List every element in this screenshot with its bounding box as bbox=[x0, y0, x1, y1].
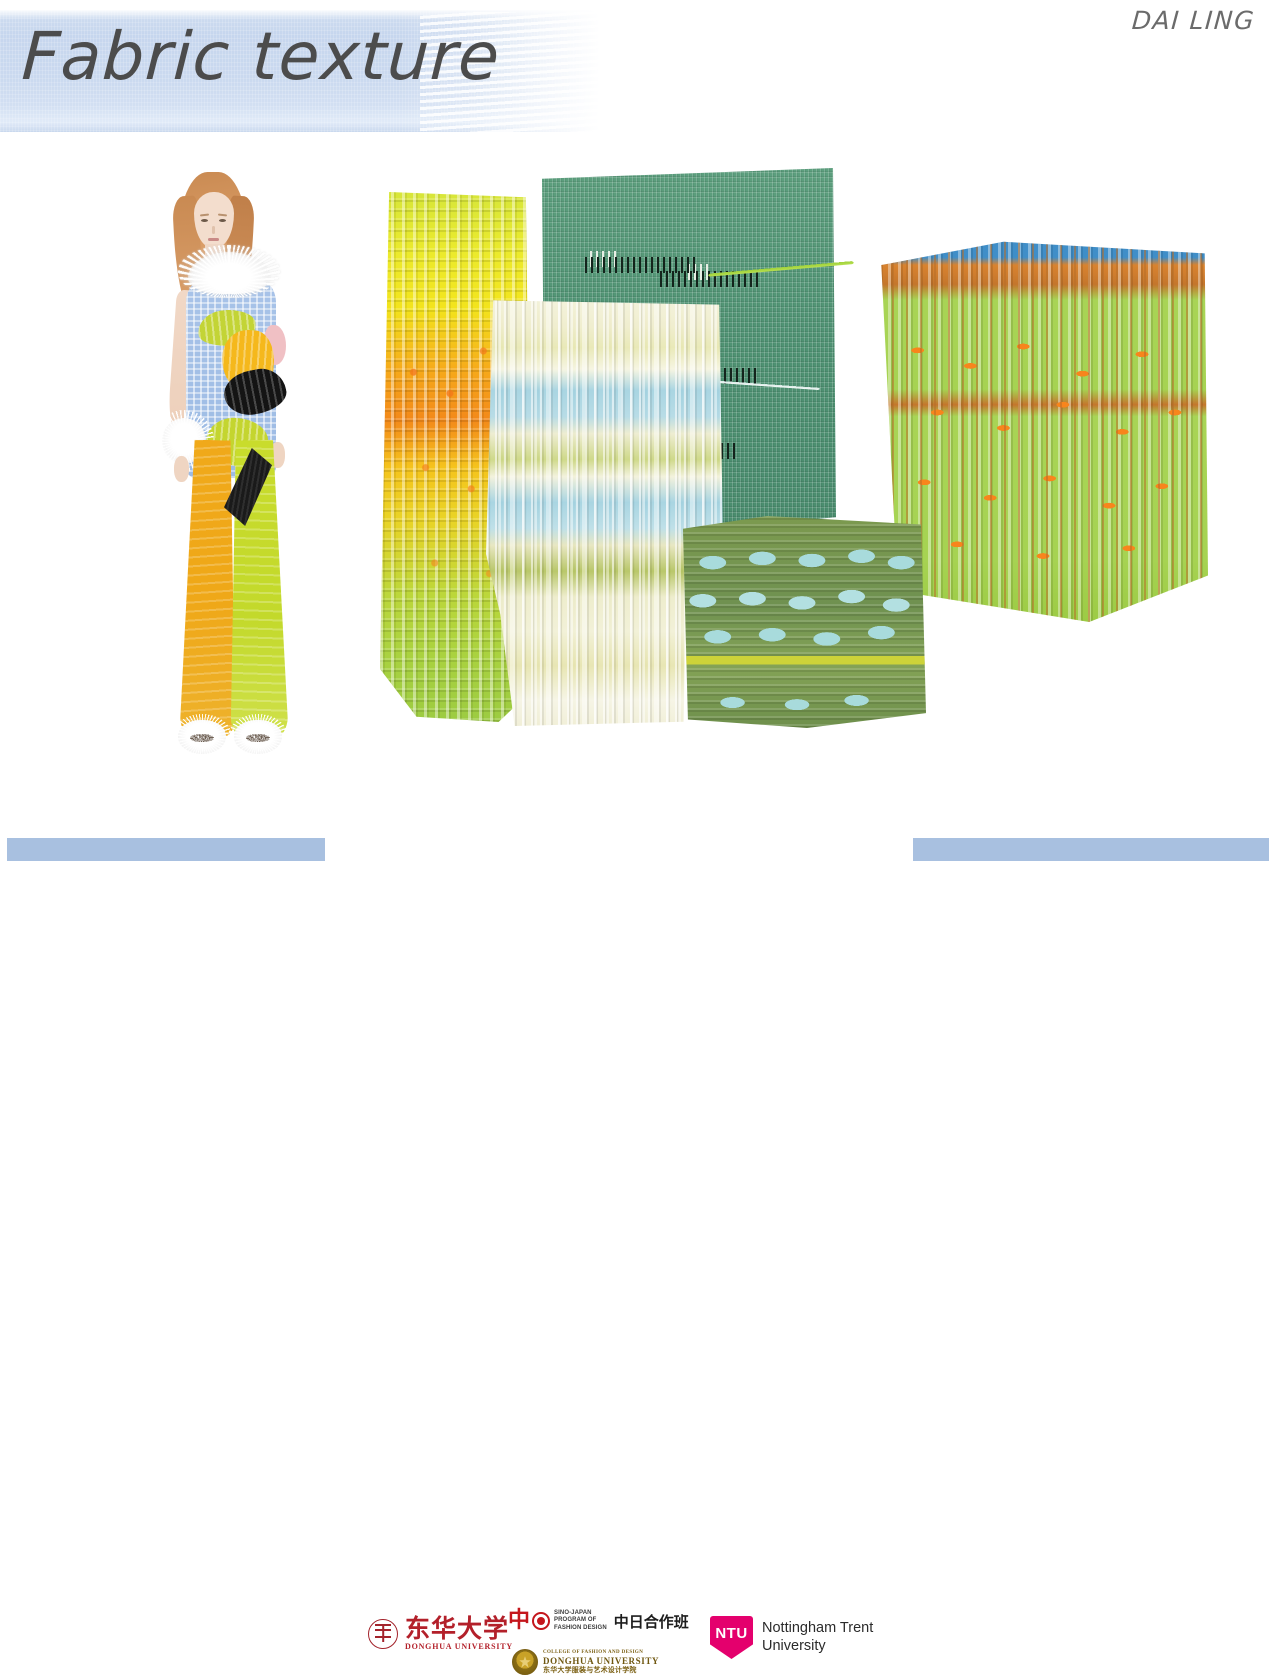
ntu-full-name: Nottingham Trent University bbox=[762, 1620, 873, 1655]
sino-japan-mark-icon: 中 bbox=[508, 1610, 550, 1632]
figure-shoe-left bbox=[178, 720, 226, 754]
logo-college-of-fashion-and-design: COLLEGE OF FASHION AND DESIGN DONGHUA UN… bbox=[512, 1649, 659, 1675]
college-line-3: 东华大学服装与艺术设计学院 bbox=[543, 1666, 659, 1674]
figure-hand-left bbox=[174, 456, 189, 482]
ntu-abbreviation: NTU bbox=[715, 1625, 747, 1642]
sino-japan-english-block: SINO-JAPAN PROGRAM OF FASHION DESIGN bbox=[554, 1610, 607, 1632]
swatch-olive-bobble bbox=[678, 516, 926, 728]
footer-bar-right bbox=[913, 838, 1269, 861]
knit-swatch-collage bbox=[378, 168, 1218, 748]
sino-japan-en-line1: SINO-JAPAN bbox=[554, 1610, 607, 1617]
sino-japan-zhong-glyph: 中 bbox=[508, 1610, 530, 1632]
donghua-name-en: DONGHUA UNIVERSITY bbox=[405, 1643, 513, 1651]
figure-eye-right bbox=[219, 219, 226, 222]
college-text-block: COLLEGE OF FASHION AND DESIGN DONGHUA UN… bbox=[543, 1650, 659, 1675]
figure-nose bbox=[212, 226, 215, 234]
donghua-name-cn: 东华大学 bbox=[405, 1616, 513, 1641]
sino-japan-en-line3: FASHION DESIGN bbox=[554, 1625, 607, 1632]
sino-japan-circle-icon bbox=[532, 1612, 550, 1630]
figure-shoe-right bbox=[234, 720, 282, 754]
slide-body bbox=[0, 150, 1269, 810]
donghua-text-block: 东华大学 DONGHUA UNIVERSITY bbox=[405, 1616, 513, 1651]
college-seal-icon bbox=[512, 1649, 538, 1675]
sino-japan-name-cn: 中日合作班 bbox=[614, 1611, 689, 1632]
footer-bar-left bbox=[7, 838, 325, 861]
college-line-2: DONGHUA UNIVERSITY bbox=[543, 1656, 659, 1667]
logo-sino-japan-program: 中 SINO-JAPAN PROGRAM OF FASHION DESIGN 中… bbox=[508, 1610, 689, 1632]
slide-header: Fabric texture DAI LING bbox=[0, 0, 1269, 150]
logo-donghua-university: 东华大学 DONGHUA UNIVERSITY bbox=[368, 1616, 513, 1651]
fashion-figure-illustration bbox=[150, 160, 345, 770]
author-name: DAI LING bbox=[1131, 6, 1256, 35]
slide-footer: 东华大学 DONGHUA UNIVERSITY 中 SINO-JAPAN PRO… bbox=[0, 800, 1269, 893]
figure-mouth bbox=[208, 238, 219, 241]
logo-nottingham-trent-university: NTU Nottingham Trent University bbox=[710, 1616, 873, 1659]
page-title: Fabric texture bbox=[20, 22, 502, 91]
figure-eye-left bbox=[201, 219, 208, 222]
ntu-shield-icon: NTU bbox=[710, 1616, 753, 1659]
figure-feather-collar bbox=[188, 252, 270, 294]
swatch-lime-orange-dash bbox=[878, 234, 1208, 622]
donghua-seal-icon bbox=[368, 1619, 398, 1649]
sino-japan-en-line2: PROGRAM OF bbox=[554, 1617, 607, 1624]
